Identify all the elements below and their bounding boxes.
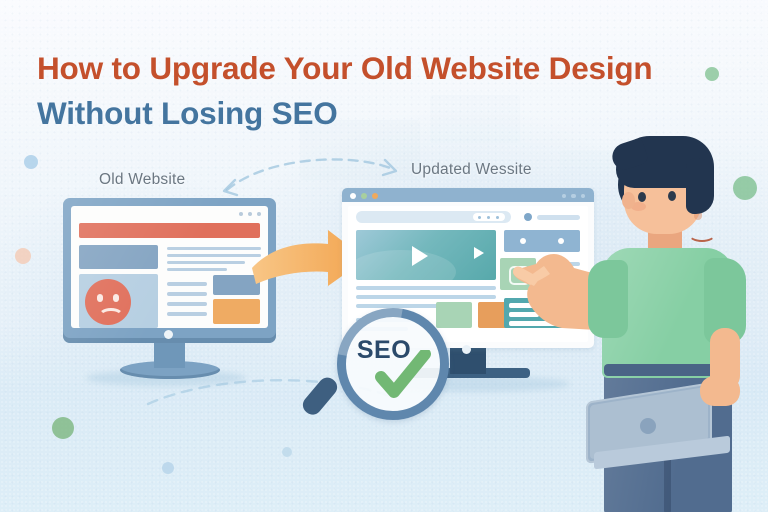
person-illustration [560, 130, 768, 512]
browser-title-bar [342, 188, 594, 202]
blue-dot-left-icon [24, 155, 38, 169]
green-dot-top-right-icon [705, 67, 719, 81]
old-website-monitor [63, 198, 276, 383]
page-title: How to Upgrade Your Old Website Design W… [37, 46, 707, 135]
sad-face-icon [85, 279, 131, 325]
play-icon[interactable] [412, 246, 428, 266]
peach-dot-left-icon [15, 248, 31, 264]
old-site-header-bar [79, 223, 260, 238]
label-updated-website: Updated Wessite [411, 161, 532, 179]
eye-left [638, 192, 646, 202]
green-dot-lower-left-icon [52, 417, 74, 439]
new-monitor-power-button [462, 345, 471, 354]
green-check-icon [375, 350, 431, 402]
eye-right [668, 191, 676, 201]
browser-window-dots [350, 193, 378, 199]
title-line-1: How to Upgrade Your Old Website Design [37, 46, 707, 91]
title-line-2: Without Losing SEO [37, 91, 707, 136]
address-bar[interactable] [356, 211, 511, 223]
ear [622, 192, 635, 209]
illustration-canvas: How to Upgrade Your Old Website Design W… [0, 0, 768, 512]
address-bar-pill [473, 213, 505, 221]
label-old-website: Old Website [99, 171, 185, 189]
seo-magnifier: SEO [318, 308, 438, 418]
old-monitor-neck [154, 343, 185, 368]
old-website-screen [71, 206, 268, 328]
laptop-logo-icon [640, 418, 656, 434]
old-window-dots [239, 212, 261, 216]
video-hero[interactable] [356, 230, 496, 280]
blue-dot-mid-icon [282, 447, 292, 457]
old-monitor-bezel [63, 198, 276, 343]
mouth-smile [688, 226, 716, 242]
avatar [524, 213, 532, 221]
hand-right [700, 376, 740, 406]
tile-green[interactable] [436, 302, 472, 328]
hair-side [686, 158, 714, 214]
old-site-left-panel [79, 274, 158, 328]
old-site-block-orange [213, 299, 260, 324]
play-secondary-icon[interactable] [474, 247, 484, 259]
blue-dot-bottom-icon [162, 462, 174, 474]
old-monitor-power-button [164, 330, 173, 339]
old-site-hero-block [79, 245, 158, 269]
sleeve-left [588, 260, 628, 338]
